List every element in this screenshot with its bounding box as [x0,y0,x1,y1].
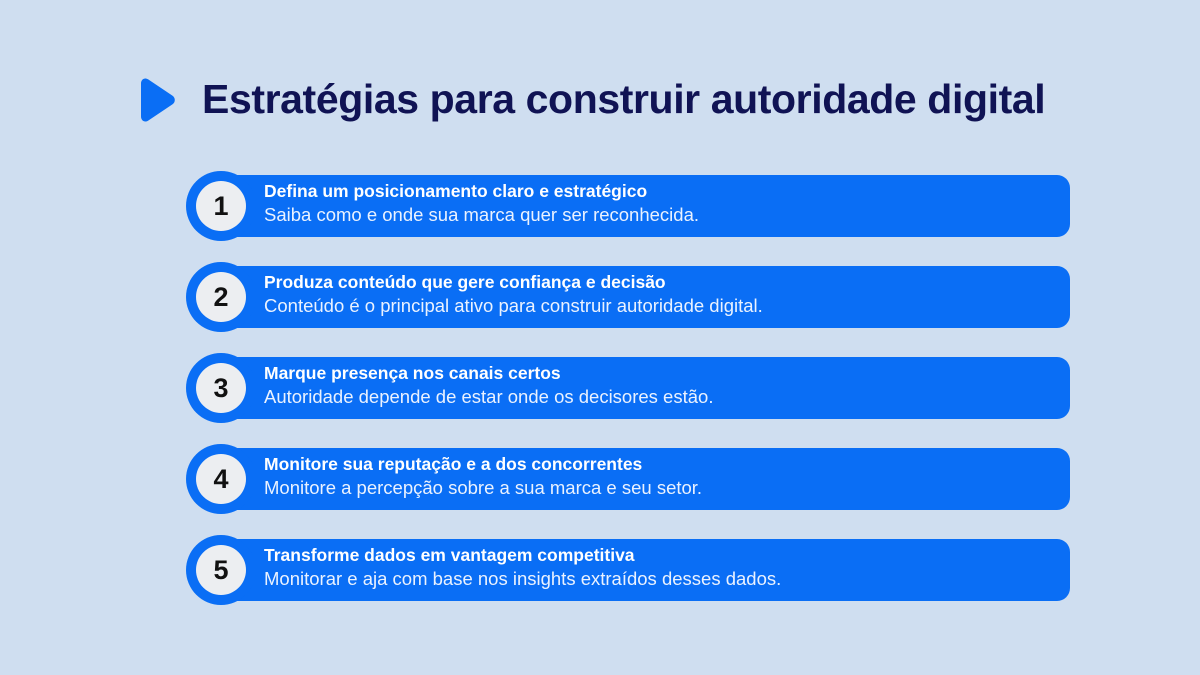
step-badge-inner: 5 [196,545,246,595]
step-number-badge: 2 [186,262,256,332]
slide-header: Estratégias para construir autoridade di… [134,76,1045,124]
step-subtitle: Monitore a percepção sobre a sua marca e… [264,476,1052,500]
step-number: 2 [213,284,228,311]
step-subtitle: Conteúdo é o principal ativo para constr… [264,294,1052,318]
step-number-badge: 4 [186,444,256,514]
step-number: 4 [213,466,228,493]
step-badge-inner: 3 [196,363,246,413]
step-text-block: Marque presença nos canais certos Autori… [264,362,1052,409]
step-subtitle: Monitorar e aja com base nos insights ex… [264,567,1052,591]
step-text-block: Transforme dados em vantagem competitiva… [264,544,1052,591]
step-number: 3 [213,375,228,402]
list-item[interactable]: 3 Marque presença nos canais certos Auto… [186,353,1070,423]
list-item[interactable]: 2 Produza conteúdo que gere confiança e … [186,262,1070,332]
step-subtitle: Saiba como e onde sua marca quer ser rec… [264,203,1052,227]
slide-canvas: Estratégias para construir autoridade di… [0,0,1200,675]
step-title: Marque presença nos canais certos [264,362,1052,384]
step-text-block: Monitore sua reputação e a dos concorren… [264,453,1052,500]
step-badge-inner: 4 [196,454,246,504]
step-badge-inner: 2 [196,272,246,322]
list-item[interactable]: 1 Defina um posicionamento claro e estra… [186,171,1070,241]
step-title: Produza conteúdo que gere confiança e de… [264,271,1052,293]
list-item[interactable]: 5 Transforme dados em vantagem competiti… [186,535,1070,605]
step-text-block: Defina um posicionamento claro e estraté… [264,180,1052,227]
step-text-block: Produza conteúdo que gere confiança e de… [264,271,1052,318]
step-subtitle: Autoridade depende de estar onde os deci… [264,385,1052,409]
step-title: Monitore sua reputação e a dos concorren… [264,453,1052,475]
step-title: Defina um posicionamento claro e estraté… [264,180,1052,202]
step-number-badge: 5 [186,535,256,605]
step-number-badge: 1 [186,171,256,241]
step-title: Transforme dados em vantagem competitiva [264,544,1052,566]
step-badge-inner: 1 [196,181,246,231]
steps-list: 1 Defina um posicionamento claro e estra… [186,171,1070,605]
play-triangle-icon [134,76,178,124]
step-number: 5 [213,557,228,584]
page-title: Estratégias para construir autoridade di… [202,77,1045,122]
step-number: 1 [213,193,228,220]
list-item[interactable]: 4 Monitore sua reputação e a dos concorr… [186,444,1070,514]
step-number-badge: 3 [186,353,256,423]
